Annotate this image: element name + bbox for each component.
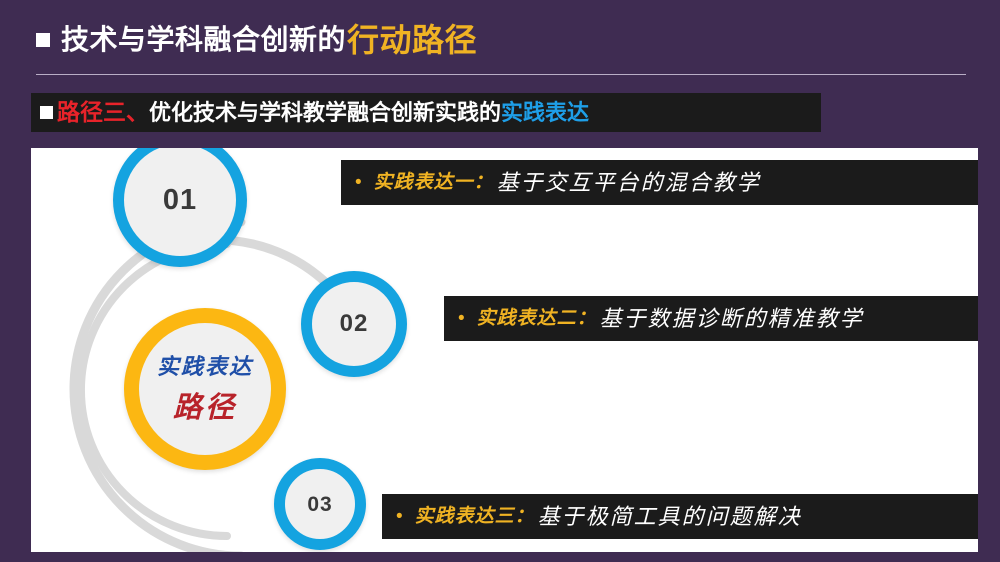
content-bar-2-label: 实践表达二： bbox=[477, 309, 597, 328]
content-bar-3-label: 实践表达三： bbox=[415, 507, 535, 526]
content-bar-1-text: 基于交互平台的混合教学 bbox=[497, 172, 761, 194]
page-title-main: 技术与学科融合创新的 bbox=[61, 26, 346, 54]
content-bar-3: • 实践表达三： 基于极简工具的问题解决 bbox=[382, 494, 978, 539]
content-bar-1: • 实践表达一： 基于交互平台的混合教学 bbox=[341, 160, 978, 205]
diagram-node-02-label: 02 bbox=[340, 312, 369, 336]
diagram-center-node[interactable]: 实践表达 路径 bbox=[124, 308, 286, 470]
subtitle-accent-text: 实践表达 bbox=[501, 102, 589, 124]
page-title: 技术与学科融合创新的 行动路径 bbox=[36, 18, 477, 62]
subtitle-bar: 路径三、 优化技术与学科教学融合创新实践的 实践表达 bbox=[31, 93, 821, 132]
content-bar-3-text: 基于极简工具的问题解决 bbox=[538, 506, 802, 528]
diagram-center-line1: 实践表达 bbox=[157, 356, 253, 378]
header-divider bbox=[36, 74, 966, 75]
square-bullet-icon bbox=[36, 33, 50, 47]
subtitle-path-label: 路径三、 bbox=[57, 101, 149, 124]
content-bar-1-label: 实践表达一： bbox=[374, 173, 494, 192]
diagram-node-03[interactable]: 03 bbox=[274, 458, 366, 550]
content-bar-2: • 实践表达二： 基于数据诊断的精准教学 bbox=[444, 296, 978, 341]
square-bullet-icon bbox=[40, 106, 53, 119]
bullet-dot-icon: • bbox=[355, 173, 362, 192]
subtitle-main-text: 优化技术与学科教学融合创新实践的 bbox=[149, 102, 501, 124]
bullet-dot-icon: • bbox=[396, 507, 403, 526]
slide-root: 技术与学科融合创新的 行动路径 路径三、 优化技术与学科教学融合创新实践的 实践… bbox=[0, 0, 1000, 562]
diagram-node-03-label: 03 bbox=[307, 494, 332, 515]
content-bar-2-text: 基于数据诊断的精准教学 bbox=[600, 308, 864, 330]
page-title-accent: 行动路径 bbox=[347, 24, 477, 56]
content-panel: 01 实践表达 路径 02 03 • 实践表达一： 基于交互平台的混合教学 • … bbox=[31, 148, 978, 552]
diagram-center-line2: 路径 bbox=[173, 394, 237, 423]
diagram-node-01-label: 01 bbox=[163, 186, 197, 215]
bullet-dot-icon: • bbox=[458, 309, 465, 328]
diagram-node-02[interactable]: 02 bbox=[301, 271, 407, 377]
